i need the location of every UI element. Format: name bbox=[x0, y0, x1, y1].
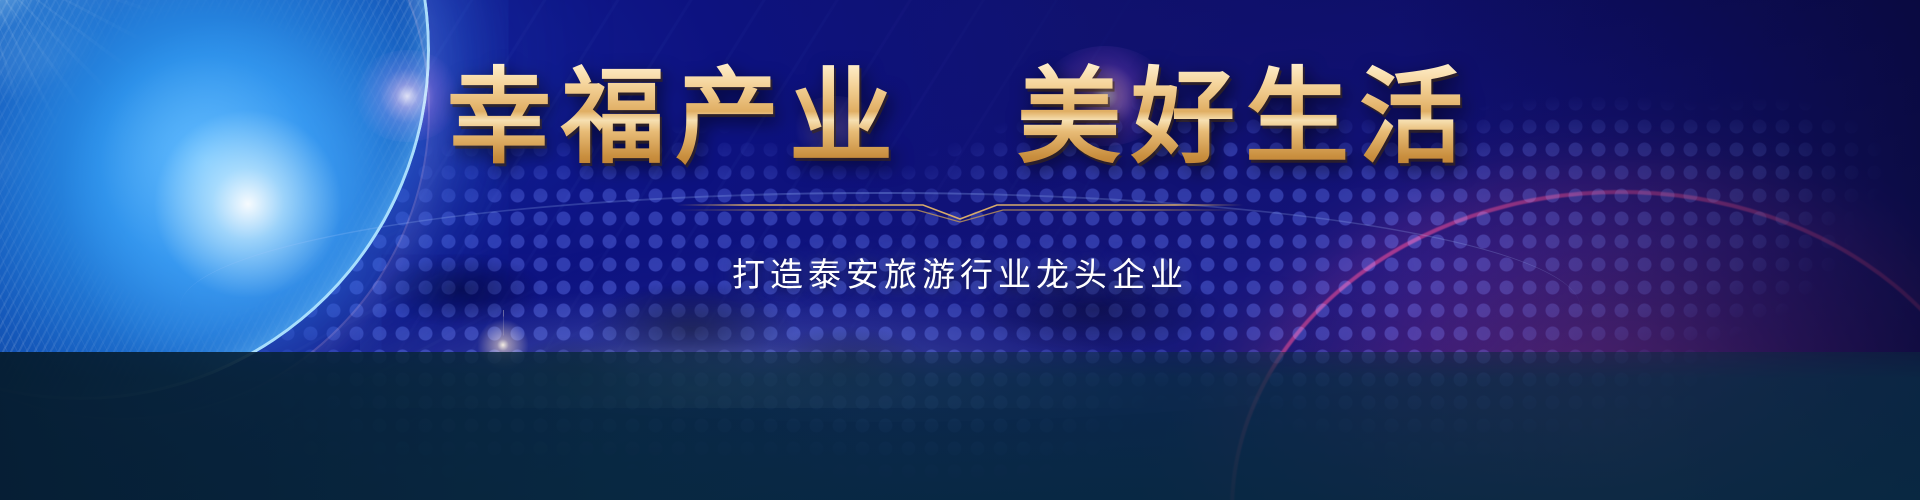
page-title: 幸福产业 美好生活 bbox=[447, 62, 1473, 174]
banner-subtitle: 打造泰安旅游行业龙头企业 bbox=[732, 248, 1188, 296]
gold-divider-with-chevron-icon bbox=[677, 200, 1243, 222]
hero-banner: 幸福产业 美好生活 bbox=[0, 0, 1920, 500]
banner-content: 幸福产业 美好生活 bbox=[0, 0, 1920, 500]
